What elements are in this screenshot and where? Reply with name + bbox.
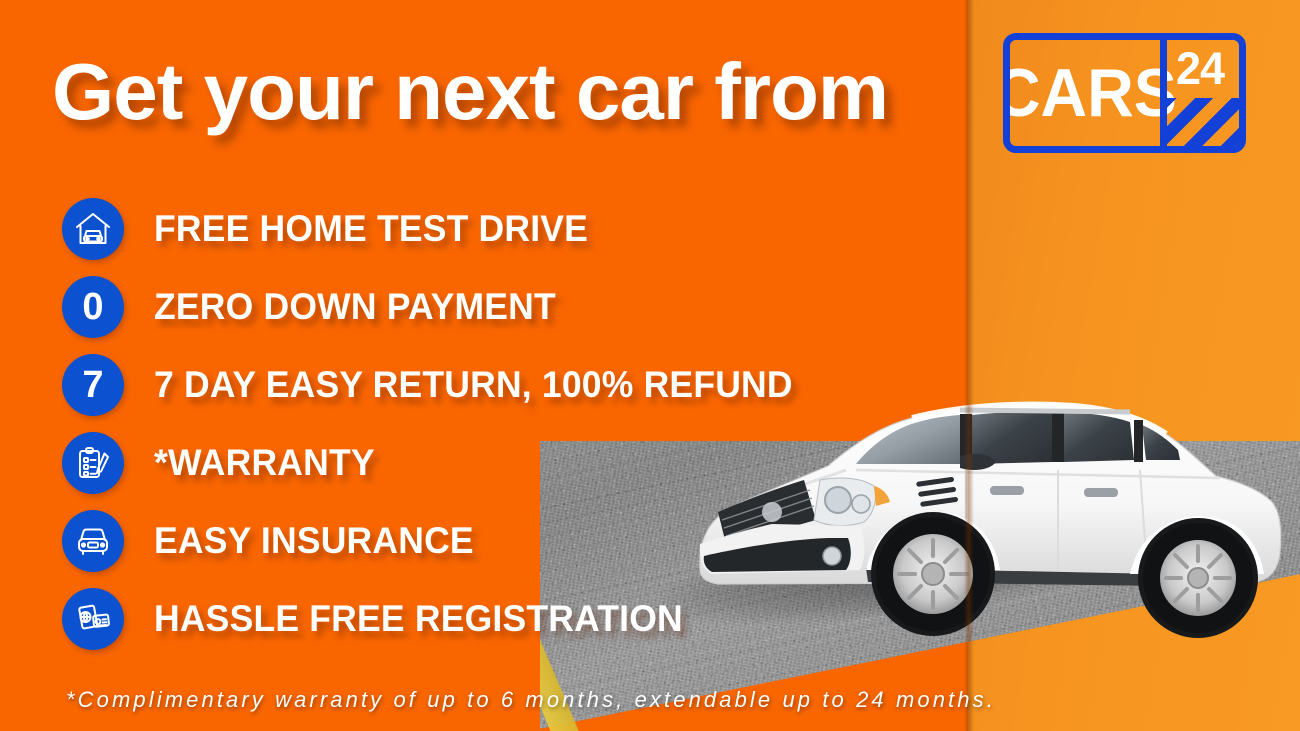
feature-label: *WARRANTY — [154, 442, 375, 484]
feature-item-hassle-free-registration: HASSLE FREE REGISTRATION — [62, 586, 762, 652]
panel-divider — [964, 0, 974, 731]
feature-item-zero-down-payment: 0 ZERO DOWN PAYMENT — [62, 274, 762, 340]
feature-item-seven-day-return: 7 7 DAY EASY RETURN, 100% REFUND — [62, 352, 762, 418]
car-front-icon — [62, 510, 124, 572]
zero-number-glyph: 0 — [82, 288, 103, 326]
documents-id-icon — [62, 588, 124, 650]
clipboard-pen-icon — [62, 432, 124, 494]
feature-list: FREE HOME TEST DRIVE 0 ZERO DOWN PAYMENT… — [62, 196, 762, 664]
logo-diagonal-stripes-icon — [1167, 98, 1239, 146]
logo-number-text: 24 — [1176, 46, 1224, 91]
seven-number-glyph: 7 — [82, 366, 103, 404]
logo-divider — [1160, 40, 1167, 146]
zero-number-icon: 0 — [62, 276, 124, 338]
feature-label: EASY INSURANCE — [154, 520, 474, 562]
logo-word-panel: CARS — [1010, 40, 1160, 146]
feature-label: 7 DAY EASY RETURN, 100% REFUND — [154, 364, 793, 406]
feature-label: FREE HOME TEST DRIVE — [154, 208, 588, 250]
home-car-icon — [62, 198, 124, 260]
warranty-footnote: *Complimentary warranty of up to 6 month… — [66, 687, 996, 713]
cars24-promo-banner: Get your next car from CARS 24 — [0, 0, 1300, 731]
feature-label: ZERO DOWN PAYMENT — [154, 286, 556, 328]
page-title: Get your next car from — [52, 52, 952, 132]
logo-word-text: CARS — [1003, 59, 1177, 127]
feature-label: HASSLE FREE REGISTRATION — [154, 598, 683, 640]
seven-number-icon: 7 — [62, 354, 124, 416]
feature-item-warranty: *WARRANTY — [62, 430, 762, 496]
feature-item-easy-insurance: EASY INSURANCE — [62, 508, 762, 574]
cars24-logo[interactable]: CARS 24 — [1003, 33, 1246, 153]
logo-number-panel: 24 — [1167, 40, 1239, 146]
feature-item-free-home-test-drive: FREE HOME TEST DRIVE — [62, 196, 762, 262]
